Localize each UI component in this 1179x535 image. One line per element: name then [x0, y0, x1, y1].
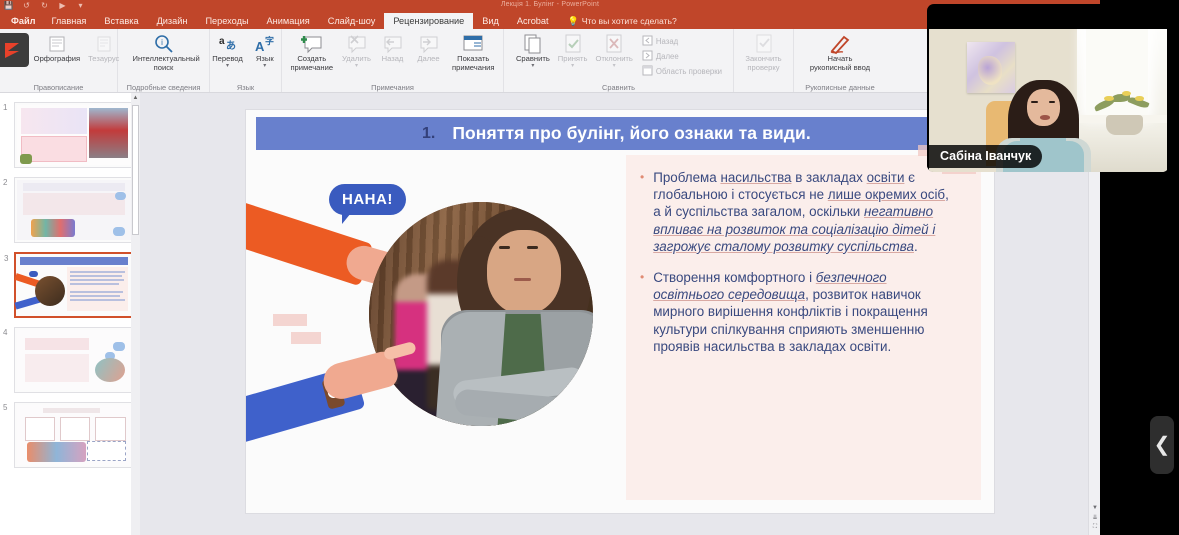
bullet-1-part-3: в закладах: [791, 170, 866, 185]
button-next-change-label: Далее: [656, 52, 679, 61]
translate-icon: aあ: [217, 33, 239, 55]
accept-caret-icon[interactable]: ▾: [571, 64, 574, 69]
button-next-comment-label: Далее: [417, 55, 439, 64]
spellcheck-icon: [47, 33, 67, 55]
photo-subject-mouth: [514, 278, 531, 281]
button-prev-comment-label: Назад: [382, 55, 404, 64]
button-accept[interactable]: Принять ▾: [555, 32, 591, 70]
button-spellcheck-label: Орфография: [34, 55, 80, 64]
button-prev-change-label: Назад: [656, 37, 678, 46]
screen: 💾 ↺ ↻ ▶ ▾ Лекція 1. Булінг - PowerPoint …: [0, 0, 1179, 535]
delete-comment-caret-icon[interactable]: ▾: [355, 64, 358, 69]
button-end-review[interactable]: Закончить проверку: [738, 32, 789, 73]
tell-me-search[interactable]: 💡 Что вы хотите сделать?: [558, 13, 677, 29]
svg-text:字: 字: [265, 35, 274, 46]
tab-insert[interactable]: Вставка: [95, 13, 147, 29]
button-show-comments[interactable]: Показать примечания: [448, 32, 500, 73]
slide-bullet-list: • Проблема насильства в закладах освіти …: [640, 169, 949, 369]
tab-file[interactable]: Файл: [4, 13, 42, 29]
chevron-left-icon: ❮: [1154, 435, 1171, 455]
next-comment-icon: [418, 33, 440, 55]
button-review-pane-label: Область проверки: [656, 67, 722, 76]
slide-thumbnail-2-number: 2: [3, 178, 7, 187]
slide-illustration: HAHA!: [251, 162, 623, 502]
button-show-comments-label: Показать примечания: [451, 55, 497, 72]
bullet-1-part-2: насильства: [720, 170, 791, 185]
decor-block-1: [273, 314, 307, 326]
button-thesaurus[interactable]: Тезаурус: [85, 32, 122, 65]
ribbon-group-comments: Создать примечание Удалить ▾ Назад: [282, 29, 504, 93]
slide-scroll-next-icon[interactable]: ⇊: [1089, 514, 1100, 521]
photo-subject-eye-left: [499, 246, 510, 249]
vase-pot: [1106, 115, 1143, 135]
tab-review[interactable]: Рецензирование: [384, 13, 473, 29]
speaker-mouth: [1040, 115, 1051, 120]
current-slide[interactable]: 1. Поняття про булінг, його ознаки та ви…: [246, 110, 994, 513]
button-new-comment-label: Создать примечание: [289, 55, 335, 72]
slide-thumbnail-3-number: 3: [4, 254, 8, 263]
tab-home[interactable]: Главная: [42, 13, 95, 29]
prev-change-icon: [642, 35, 653, 48]
button-prev-comment[interactable]: Назад: [376, 32, 410, 65]
participant-name-label: Сабіна Іванчук: [927, 145, 1042, 168]
compare-caret-icon[interactable]: ▾: [531, 64, 534, 69]
scroll-up-arrow-icon[interactable]: ▲: [132, 95, 139, 101]
slide-thumbnail-1-number: 1: [3, 103, 7, 112]
bullet-1-part-1: Проблема: [653, 170, 720, 185]
new-comment-icon: [300, 33, 324, 55]
group-name-comments: Примечания: [286, 83, 499, 93]
speaker-eye-right: [1049, 101, 1055, 103]
start-inking-icon: [828, 33, 852, 55]
flower-3: [1135, 96, 1144, 101]
ribbon-group-end-review: Закончить проверку: [734, 29, 794, 93]
svg-text:あ: あ: [226, 39, 236, 52]
button-compare[interactable]: Сравнить ▾: [513, 32, 553, 70]
button-start-inking-label: Начать рукописный ввод: [809, 55, 871, 72]
delete-comment-icon: [346, 33, 368, 55]
lightbulb-icon: 💡: [568, 16, 579, 27]
end-review-icon: [753, 33, 775, 55]
slide-text-panel[interactable]: • Проблема насильства в закладах освіти …: [626, 155, 981, 500]
slide-bullet-2: • Створення комфортного і безпечного осв…: [640, 269, 949, 355]
speech-bubble-text: HAHA!: [342, 191, 393, 208]
reject-caret-icon[interactable]: ▾: [613, 64, 616, 69]
bullet-dot-2: •: [640, 269, 644, 355]
slide-title-text: Поняття про булінг, його ознаки та види.: [452, 123, 811, 144]
tell-me-label: Что вы хотите сделать?: [582, 16, 677, 26]
show-comments-icon: [461, 33, 485, 55]
button-spellcheck[interactable]: Орфография: [31, 32, 83, 65]
ribbon-group-ink: Начать рукописный ввод Рукописные данные: [794, 29, 886, 93]
ribbon-group-compare: Сравнить ▾ Принять ▾ Откло: [504, 29, 734, 93]
smart-lookup-icon: i: [153, 33, 175, 55]
tab-animations[interactable]: Анимация: [258, 13, 319, 29]
slide-scroll-down-icon[interactable]: ▼: [1089, 505, 1100, 511]
svg-text:a: a: [219, 36, 225, 47]
translate-caret-icon[interactable]: ▾: [226, 64, 229, 69]
button-next-change[interactable]: Далее: [642, 50, 722, 63]
button-review-pane[interactable]: Область проверки: [642, 65, 722, 78]
bullet-1-part-9: .: [914, 239, 918, 254]
svg-text:A: A: [255, 39, 265, 54]
ribbon-group-language: aあ Перевод ▾ A字 Язык ▾ Язык: [210, 29, 282, 93]
button-smart-lookup-label: Интеллектуальный поиск: [133, 55, 195, 72]
slide-thumbnail-5-number: 5: [3, 403, 7, 412]
group-name-compare: Сравнить: [508, 83, 729, 93]
slide-bullet-1: • Проблема насильства в закладах освіти …: [640, 169, 949, 255]
compare-small-buttons: Назад Далее Область провер: [638, 32, 724, 78]
reject-icon: [603, 33, 625, 55]
bullet-2-part-1: Створення комфортного і: [653, 270, 816, 285]
language-icon: A字: [254, 33, 276, 55]
slide-title-number: 1.: [422, 125, 435, 143]
button-next-comment[interactable]: Далее: [412, 32, 446, 65]
button-reject[interactable]: Отклонить ▾: [592, 32, 635, 70]
tab-transitions[interactable]: Переходы: [196, 13, 257, 29]
button-thesaurus-label: Тезаурус: [88, 55, 119, 64]
decor-block-2: [291, 332, 321, 344]
tab-design[interactable]: Дизайн: [148, 13, 197, 29]
bullet-text-2: Створення комфортного і безпечного освіт…: [653, 269, 949, 355]
flower-2: [1122, 91, 1131, 96]
group-name-language: Язык: [214, 83, 277, 93]
ribbon-group-insights: i Интеллектуальный поиск Подробные сведе…: [118, 29, 210, 93]
collapse-panel-button[interactable]: ❮: [1150, 416, 1174, 474]
slide-thumbnail-5[interactable]: 5: [14, 402, 134, 468]
compare-icon: [522, 33, 544, 55]
button-smart-lookup[interactable]: i Интеллектуальный поиск: [130, 32, 198, 73]
bullet-1-part-4: освіти: [867, 170, 905, 185]
slide-thumbnail-2[interactable]: 2: [14, 177, 134, 243]
next-change-icon: [642, 50, 653, 63]
photo-subject-face: [487, 230, 561, 314]
tab-view[interactable]: Вид: [473, 13, 508, 29]
wall-painting: [967, 42, 1015, 93]
slide-fit-icon[interactable]: ⛶: [1089, 524, 1100, 531]
accept-icon: [562, 33, 584, 55]
slide-thumbnail-1[interactable]: 1: [14, 102, 134, 168]
slide-thumbnail-4[interactable]: 4: [14, 327, 134, 393]
review-pane-icon: [642, 65, 653, 78]
flower-vase: [1093, 89, 1155, 135]
bullet-1-part-6: лише окремих осіб: [828, 187, 945, 202]
button-language[interactable]: A字 Язык ▾: [248, 32, 282, 70]
previous-comment-icon: [382, 33, 404, 55]
thumbnail-scrollbar[interactable]: ▲: [131, 93, 140, 535]
thesaurus-icon: [95, 33, 113, 55]
group-name-insights: Подробные сведения: [122, 83, 205, 93]
zoom-app-icon[interactable]: [0, 33, 29, 67]
group-name-ink: Рукописные данные: [798, 83, 882, 93]
button-delete-comment[interactable]: Удалить ▾: [340, 32, 374, 70]
video-tile[interactable]: Сабіна Іванчук: [927, 4, 1169, 172]
slide-thumbnail-3[interactable]: 3: [14, 252, 134, 318]
group-name-spellcheck: Правописание: [4, 83, 113, 93]
tab-slideshow[interactable]: Слайд-шоу: [319, 13, 385, 29]
svg-text:i: i: [161, 38, 163, 47]
bullet-text-1: Проблема насильства в закладах освіти є …: [653, 169, 949, 255]
bullying-photo: [369, 202, 593, 426]
slide-title-band[interactable]: 1. Поняття про булінг, його ознаки та ви…: [256, 117, 980, 150]
button-prev-change[interactable]: Назад: [642, 35, 722, 48]
language-caret-icon[interactable]: ▾: [263, 64, 266, 69]
speaker-face: [1027, 89, 1060, 126]
button-start-inking[interactable]: Начать рукописный ввод: [806, 32, 874, 73]
ribbon-group-spellcheck: Орфография Тезаурус Правописание: [0, 29, 118, 93]
button-translate[interactable]: aあ Перевод ▾: [209, 32, 246, 70]
speaker-eye-left: [1031, 101, 1037, 103]
slide-thumbnail-panel[interactable]: 1 2: [0, 93, 140, 535]
speech-bubble: HAHA!: [329, 184, 406, 215]
button-end-review-label: Закончить проверку: [741, 55, 786, 72]
photo-subject-eye-right: [527, 246, 538, 249]
bullet-dot-1: •: [640, 169, 644, 255]
tab-acrobat[interactable]: Acrobat: [508, 13, 558, 29]
thumbnail-scroll-thumb[interactable]: [132, 105, 139, 235]
button-new-comment[interactable]: Создать примечание: [286, 32, 338, 73]
slide-thumbnail-4-number: 4: [3, 328, 7, 337]
